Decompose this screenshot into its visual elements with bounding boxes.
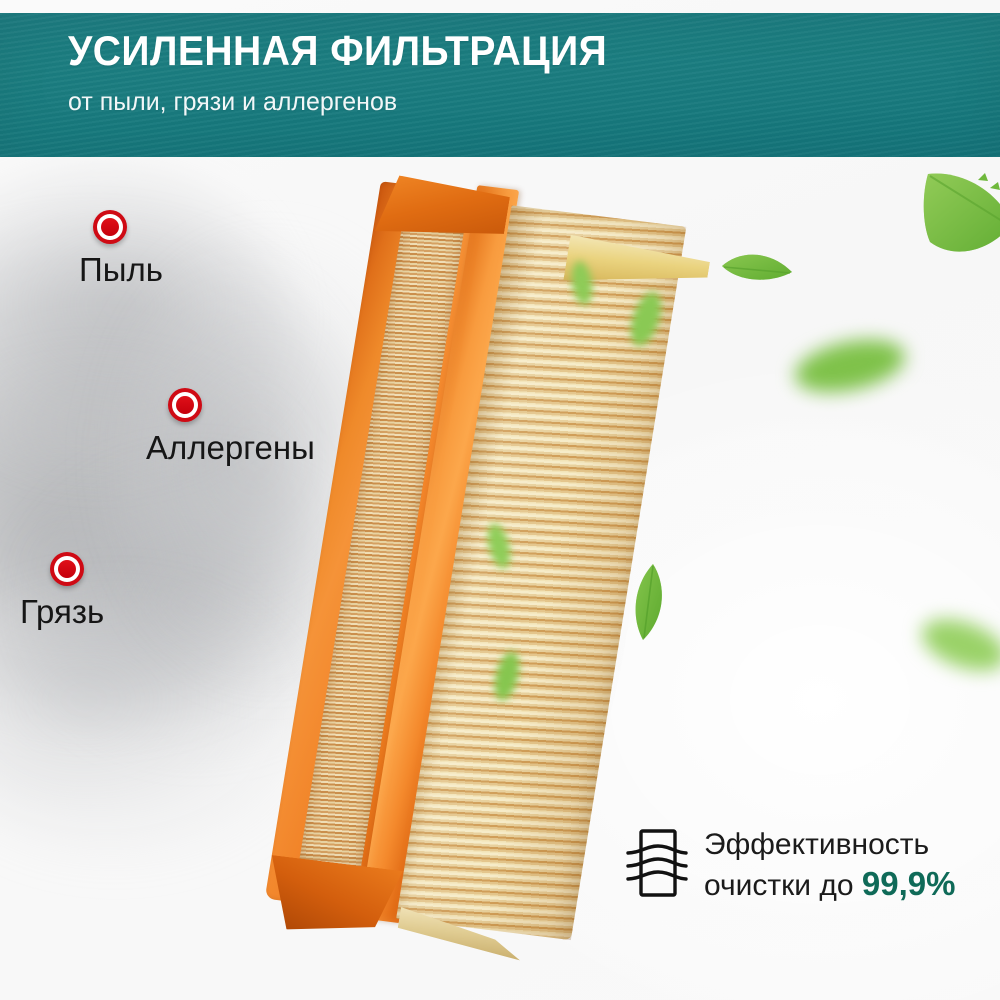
target-dot-icon <box>168 388 202 422</box>
efficiency-text: Эффективность очистки до 99,9% <box>704 827 955 904</box>
efficiency-percent: 99,9% <box>862 865 956 902</box>
header-text-block: УСИЛЕННАЯ ФИЛЬТРАЦИЯ от пыли, грязи и ал… <box>68 29 648 115</box>
marker-dirt-label: Грязь <box>20 595 104 628</box>
marker-allergens-label: Аллергены <box>146 431 315 464</box>
efficiency-line2-prefix: очистки до <box>704 869 854 902</box>
marker-allergens[interactable]: Аллергены <box>168 388 315 464</box>
efficiency-line1: Эффективность <box>704 827 955 864</box>
target-dot-icon <box>50 552 84 586</box>
target-dot-icon <box>93 210 127 244</box>
filter-airflow-icon <box>626 826 688 905</box>
marker-dust-label: Пыль <box>79 253 163 286</box>
infographic-canvas: УСИЛЕННАЯ ФИЛЬТРАЦИЯ от пыли, грязи и ал… <box>0 0 1000 1000</box>
efficiency-line2: очистки до 99,9% <box>704 864 955 905</box>
header-banner: УСИЛЕННАЯ ФИЛЬТРАЦИЯ от пыли, грязи и ал… <box>0 13 1000 157</box>
efficiency-badge: Эффективность очистки до 99,9% <box>626 826 955 905</box>
marker-dirt[interactable]: Грязь <box>50 552 104 628</box>
marker-dust[interactable]: Пыль <box>93 210 163 286</box>
banner-subtitle: от пыли, грязи и аллергенов <box>68 87 625 116</box>
filter-body <box>265 173 680 931</box>
banner-title: УСИЛЕННАЯ ФИЛЬТРАЦИЯ <box>68 29 607 74</box>
